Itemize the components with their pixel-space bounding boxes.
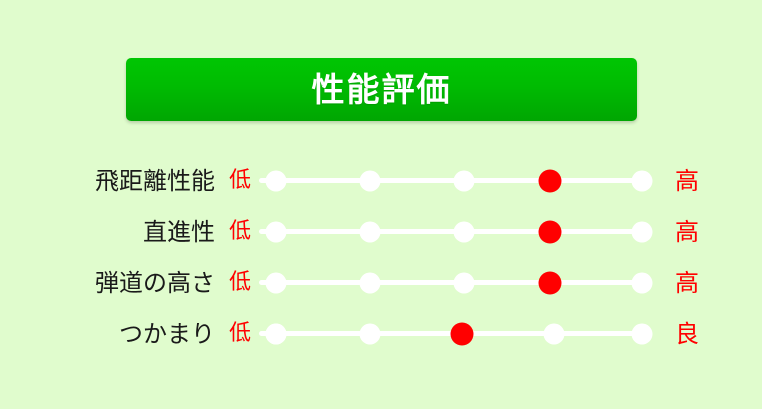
rating-low-label: 低 [222, 221, 258, 243]
scale-dot-1[interactable] [266, 170, 287, 191]
scale-dot-5[interactable] [632, 323, 653, 344]
scale-dot-4-selected[interactable] [539, 220, 562, 243]
rating-high-label: 高 [665, 271, 709, 295]
scale-dot-2[interactable] [360, 272, 381, 293]
rating-high-label: 高 [665, 220, 709, 244]
scale-dot-3[interactable] [454, 272, 475, 293]
scale-dot-3-selected[interactable] [451, 322, 474, 345]
scale-dot-3[interactable] [454, 221, 475, 242]
rating-row: 直進性 低 高 [0, 206, 762, 257]
scale-dot-2[interactable] [360, 323, 381, 344]
scale-dot-4-selected[interactable] [539, 169, 562, 192]
rating-low-label: 低 [222, 170, 258, 192]
rating-low-label: 低 [222, 272, 258, 294]
rating-high-label: 高 [665, 169, 709, 193]
rating-row-label: つかまり [58, 322, 215, 346]
rating-low-label: 低 [222, 323, 258, 345]
rating-row: つかまり 低 良 [0, 308, 762, 359]
scale-dot-1[interactable] [266, 272, 287, 293]
scale-dot-5[interactable] [632, 221, 653, 242]
rating-high-label: 良 [665, 322, 709, 346]
performance-rating-sheet: 性能評価 飛距離性能 低 高 直進性 低 [0, 0, 762, 409]
scale-dot-5[interactable] [632, 272, 653, 293]
scale-dot-2[interactable] [360, 170, 381, 191]
page-title: 性能評価 [312, 73, 452, 106]
scale-dot-4[interactable] [544, 323, 565, 344]
scale-dot-1[interactable] [266, 323, 287, 344]
scale-dot-2[interactable] [360, 221, 381, 242]
rating-scale[interactable] [259, 168, 651, 194]
scale-dot-3[interactable] [454, 170, 475, 191]
rating-scale[interactable] [259, 219, 651, 245]
rating-row-label: 弾道の高さ [58, 271, 215, 295]
scale-dot-1[interactable] [266, 221, 287, 242]
section-banner: 性能評価 [126, 58, 637, 121]
rating-row: 飛距離性能 低 高 [0, 155, 762, 206]
rating-row: 弾道の高さ 低 高 [0, 257, 762, 308]
scale-dot-4-selected[interactable] [539, 271, 562, 294]
rating-scale[interactable] [259, 321, 651, 347]
scale-dot-5[interactable] [632, 170, 653, 191]
rating-row-label: 飛距離性能 [58, 169, 215, 193]
rating-row-label: 直進性 [58, 220, 215, 244]
rating-rows: 飛距離性能 低 高 直進性 低 高 [0, 155, 762, 359]
rating-scale[interactable] [259, 270, 651, 296]
